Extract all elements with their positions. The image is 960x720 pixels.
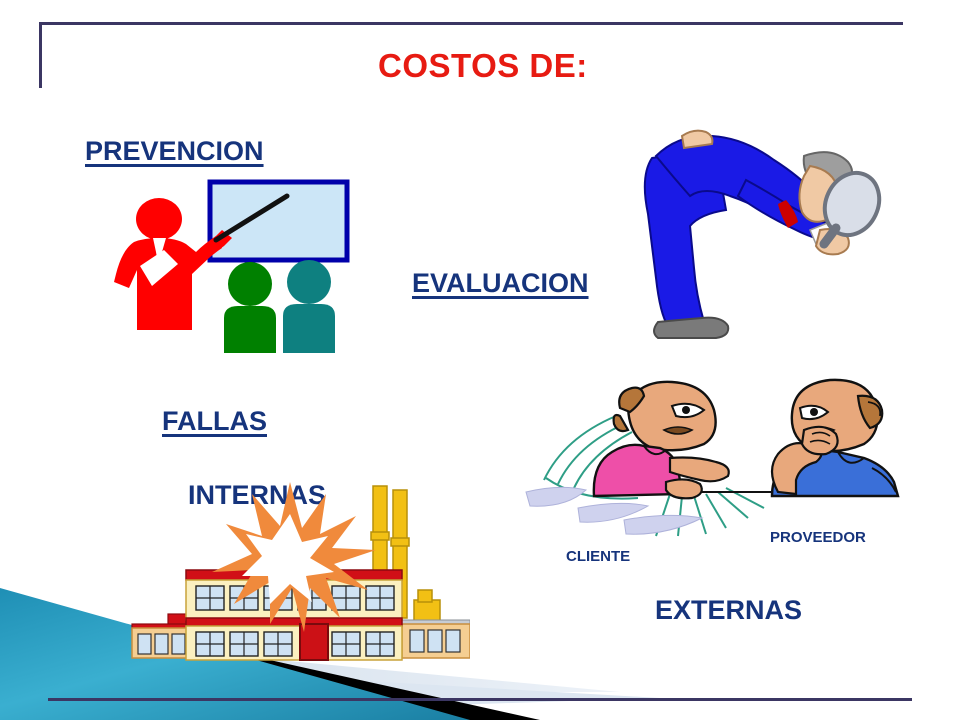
label-cliente: CLIENTE xyxy=(566,548,630,565)
student-green xyxy=(224,262,276,353)
whiteboard-shape xyxy=(210,182,347,260)
student-teal xyxy=(283,260,335,353)
customer-supplier-argument-illustration xyxy=(520,372,920,537)
inspector-hand-hip xyxy=(682,131,712,148)
inspector-with-magnifier-illustration xyxy=(634,118,884,353)
proveedor-figure xyxy=(772,380,898,496)
teacher-with-pointer-illustration xyxy=(104,178,354,353)
heading-prevencion: PREVENCION xyxy=(85,136,264,167)
decoration-light-band-2 xyxy=(0,660,660,720)
factory-left-annex xyxy=(132,614,192,658)
frame-top-vertical-rule xyxy=(39,22,42,88)
frame-top-horizontal-rule xyxy=(39,22,903,25)
heading-evaluacion: EVALUACION xyxy=(412,268,589,299)
cliente-figure xyxy=(594,382,729,498)
page-title: COSTOS DE: xyxy=(378,47,588,85)
label-proveedor: PROVEEDOR xyxy=(770,529,866,546)
factory-with-explosion-illustration xyxy=(130,472,470,667)
frame-bottom-horizontal-rule xyxy=(48,698,912,701)
inspector-shoe xyxy=(654,318,728,338)
heading-fallas: FALLAS xyxy=(162,406,267,437)
heading-externas: EXTERNAS xyxy=(655,595,802,626)
factory-right-annex xyxy=(402,590,470,658)
slide-canvas: COSTOS DE: PREVENCION EVALUACION xyxy=(0,0,960,720)
